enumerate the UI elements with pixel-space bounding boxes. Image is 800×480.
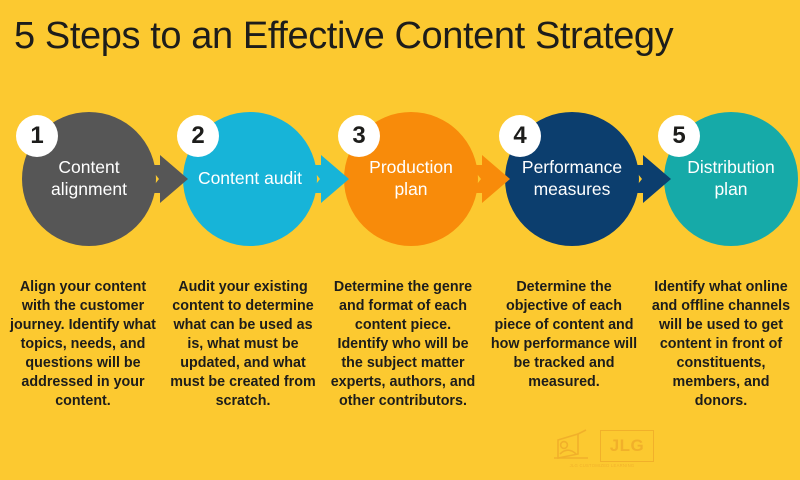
step-description-2: Audit your existing content to determine…: [168, 278, 318, 411]
step-description-4: Determine the objective of each piece of…: [489, 278, 639, 392]
arrow-right-icon: [148, 152, 204, 206]
step-number-badge-3: 3: [338, 115, 380, 157]
step-number-badge-2: 2: [177, 115, 219, 157]
flow-arrow-1: [148, 152, 204, 206]
logo-text: JLG: [610, 436, 645, 456]
arrow-right-icon: [631, 152, 687, 206]
step-number-badge-1: 1: [16, 115, 58, 157]
step-label-5: Distribution plan: [674, 157, 788, 201]
step-description-3: Determine the genre and format of each c…: [328, 278, 478, 411]
jlg-logo: JLG JLG CUSTOMIZED LEARNING: [548, 428, 656, 474]
arrow-right-icon: [309, 152, 365, 206]
step-label-2: Content audit: [198, 168, 302, 190]
step-description-1: Align your content with the customer jou…: [8, 278, 158, 411]
flow-arrow-3: [470, 152, 526, 206]
step-label-1: Content alignment: [32, 157, 146, 201]
step-label-4: Performance measures: [515, 157, 629, 201]
step-label-3: Production plan: [354, 157, 468, 201]
process-step-1[interactable]: Content alignment 1: [22, 112, 156, 246]
page-title: 5 Steps to an Effective Content Strategy: [14, 16, 794, 58]
process-flow: Content alignment 1 Content audit 2 Prod…: [0, 104, 800, 254]
infographic-canvas: 5 Steps to an Effective Content Strategy…: [0, 0, 800, 480]
arrow-right-icon: [470, 152, 526, 206]
flow-arrow-4: [631, 152, 687, 206]
step-descriptions: Align your content with the customer jou…: [0, 278, 800, 458]
logo-box: JLG: [600, 430, 654, 462]
flow-arrow-2: [309, 152, 365, 206]
logo-mark-icon: [548, 428, 594, 462]
step-description-5: Identify what online and offline channel…: [646, 278, 796, 411]
step-number-badge-5: 5: [658, 115, 700, 157]
logo-tagline: JLG CUSTOMIZED LEARNING: [548, 463, 656, 468]
step-number-badge-4: 4: [499, 115, 541, 157]
